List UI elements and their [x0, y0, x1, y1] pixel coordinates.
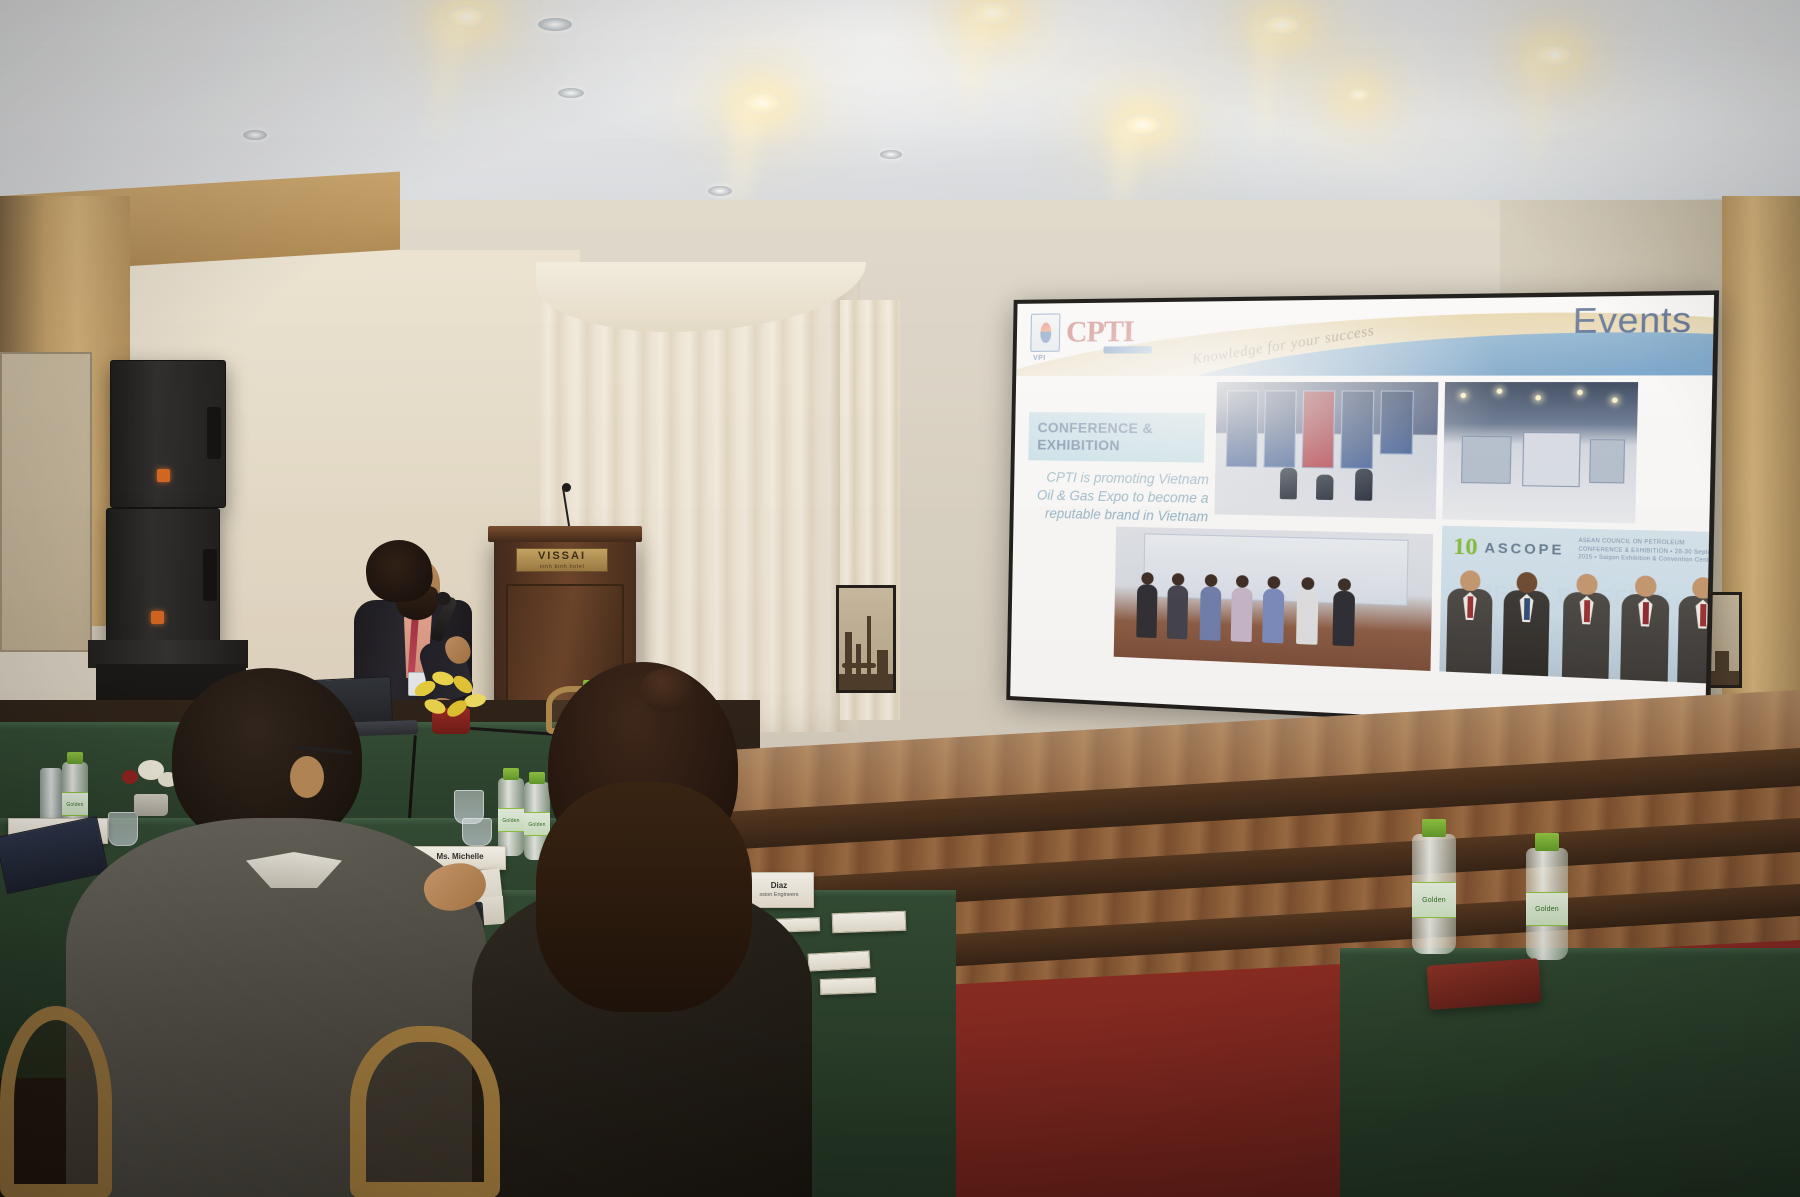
chair-back [0, 1006, 112, 1197]
ceiling-lamp-icon [742, 92, 782, 114]
slide-title: Events [1572, 300, 1692, 342]
vpi-label: VPI [1033, 355, 1046, 362]
conference-room-photo: VPI CPTI Knowledge for your success Even… [0, 0, 1800, 1197]
venue-plaque: VISSAI ninh binh hotel [516, 548, 608, 572]
delegate-figure [1620, 594, 1669, 682]
slide-header: VPI CPTI Knowledge for your success Even… [1016, 295, 1714, 376]
ascope-fine-print: ASEAN COUNCIL ON PETROLEUM CONFERENCE & … [1578, 538, 1714, 567]
water-bottle: Golden [1412, 834, 1456, 954]
projected-slide: VPI CPTI Knowledge for your success Even… [1010, 295, 1714, 732]
cpti-logo: VPI CPTI [1030, 313, 1134, 352]
name-card [808, 950, 871, 971]
delegate-figure [1562, 592, 1610, 679]
pa-speaker-bottom [106, 508, 220, 648]
lectern-top [488, 526, 642, 542]
bottle-label: Golden [1412, 882, 1456, 918]
chair-back [350, 1026, 500, 1197]
slide-canvas: VPI CPTI Knowledge for your success Even… [1010, 295, 1714, 732]
section-heading: CONFERENCE & EXHIBITION [1028, 412, 1205, 463]
venue-subtitle: ninh binh hotel [540, 564, 585, 570]
pa-speaker-top [110, 360, 226, 508]
name-card [832, 911, 907, 934]
podium-microphone-icon [562, 483, 571, 492]
cpti-underline [1103, 346, 1152, 353]
audience-hair-bun-icon [640, 668, 694, 712]
ceiling-lamp-icon [1262, 14, 1302, 36]
delegate-figure [1677, 595, 1714, 684]
cpti-flame-icon: VPI [1030, 313, 1060, 351]
red-notebook [1427, 958, 1542, 1010]
ceiling-lamp-icon [1534, 44, 1574, 66]
oil-refinery-silhouette-icon [836, 585, 896, 693]
ceiling-lamp-icon [1122, 114, 1162, 136]
ascope-wordmark: ASCOPE [1484, 540, 1564, 558]
ceiling-lamp-icon [972, 2, 1012, 24]
water-bottle: Golden [1526, 848, 1568, 960]
audience-ear [290, 756, 324, 798]
downlight-icon [538, 18, 572, 31]
name-card [820, 977, 877, 995]
downlight-icon [558, 88, 584, 98]
right-delegate-table [1340, 948, 1800, 1197]
photo-exhibition-hall [1442, 382, 1638, 523]
photo-exhibition-booth [1214, 382, 1438, 519]
audience-hair-long [536, 782, 752, 1012]
slide-body: CONFERENCE & EXHIBITION CPTI is promotin… [1010, 375, 1712, 732]
photo-award-group [1114, 527, 1433, 671]
right-delegate-table-edge [1340, 948, 1800, 956]
audience-member-right [472, 662, 812, 1197]
downlight-icon [880, 150, 902, 159]
pa-power-led [151, 611, 164, 624]
ceiling-lamp-icon [446, 6, 486, 28]
ascope-anniversary-number: 10 [1453, 532, 1478, 561]
wall-panel-left [0, 352, 92, 652]
cpti-wordmark: CPTI [1066, 317, 1134, 348]
delegate-figure [1446, 588, 1493, 674]
photo-media-briefing: 10 ASCOPE ASEAN COUNCIL ON PETROLEUM CON… [1439, 526, 1714, 685]
projection-screen: VPI CPTI Knowledge for your success Even… [1006, 290, 1719, 737]
venue-name: VISSAI [538, 551, 586, 562]
downlight-icon [708, 186, 732, 196]
ceiling-lamp-icon [1348, 88, 1370, 102]
pa-power-led [157, 469, 170, 482]
downlight-icon [243, 130, 267, 140]
bottle-label: Golden [1526, 892, 1568, 926]
delegate-figure [1502, 590, 1549, 676]
